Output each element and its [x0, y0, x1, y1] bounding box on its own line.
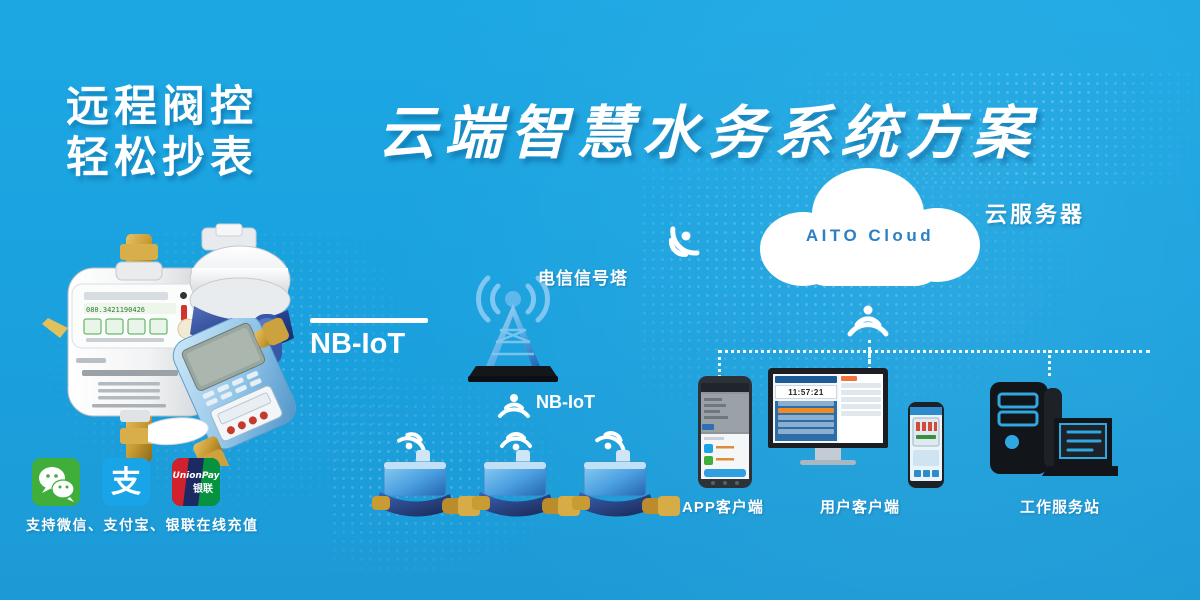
nbiot-underline: [310, 318, 428, 323]
connector-to-user: [868, 350, 871, 370]
work-station-graphic: [988, 378, 1118, 488]
monitor-nav-row: [778, 422, 834, 427]
svg-text:UnionPay: UnionPay: [172, 471, 220, 481]
monitor-panel-row: [841, 383, 881, 388]
caption-user-client: 用户客户端: [820, 496, 900, 517]
monitor-screen-right: [839, 374, 883, 443]
monitor-nav-list: [775, 401, 837, 441]
cloud-server-graphic: AITO Cloud: [760, 168, 980, 288]
monitor-base: [800, 460, 856, 465]
monitor-nav-row: [778, 401, 834, 406]
kicker-line-1: 远程阀控: [66, 82, 346, 133]
kicker-text: 远程阀控 轻松抄表: [66, 82, 346, 183]
monitor-screen: 11:57:21: [773, 374, 883, 443]
nbiot-label-secondary: NB-IoT: [536, 392, 595, 413]
monitor-screen-left: 11:57:21: [773, 374, 839, 443]
connector-horizontal: [718, 350, 1150, 353]
monitor-panel-accent: [841, 376, 857, 381]
payment-caption: 支持微信、支付宝、银联在线充值: [26, 515, 259, 535]
nbiot-badge-primary: NB-IoT: [310, 318, 428, 361]
connector-to-station: [1048, 350, 1051, 376]
wechat-pay-icon[interactable]: [32, 458, 80, 506]
svg-text:支: 支: [111, 465, 141, 500]
wifi-icon-uplink: [648, 226, 702, 270]
poster-canvas: 远程阀控 轻松抄表 云端智慧水务系统方案 080.3421190426: [0, 0, 1200, 600]
user-client-monitor: 11:57:21: [768, 368, 888, 465]
svg-text:080.3421190426: 080.3421190426: [86, 306, 145, 314]
field-meter-2: [472, 448, 582, 524]
alipay-icon[interactable]: 支: [102, 458, 150, 506]
monitor-nav-row-active: [778, 408, 834, 413]
product-meter-small: [148, 318, 328, 466]
wifi-icon-meter-1: [396, 420, 436, 450]
wifi-icon-meter-3: [594, 420, 636, 450]
payment-icon-row: 支 UnionPay 银联: [32, 458, 220, 506]
cloud-brand-label: AITO Cloud: [760, 226, 980, 246]
monitor-bezel: 11:57:21: [768, 368, 888, 448]
svg-text:银联: 银联: [193, 482, 213, 495]
monitor-panel-row: [841, 411, 881, 416]
meter-reading-phone: [908, 402, 944, 488]
kicker-line-2: 轻松抄表: [66, 133, 346, 184]
app-client-phone: [698, 376, 752, 488]
monitor-panel-row: [841, 404, 881, 409]
monitor-clock: 11:57:21: [775, 385, 837, 399]
nbiot-label-primary: NB-IoT: [310, 328, 428, 361]
wifi-icon-meter-2: [496, 422, 538, 452]
monitor-nav-row: [778, 429, 834, 434]
monitor-panel-row: [841, 397, 881, 402]
tower-label: 电信信号塔: [538, 264, 628, 289]
wifi-icon-downlink: [840, 296, 896, 340]
caption-work-station: 工作服务站: [1020, 496, 1100, 517]
connector-to-app: [718, 350, 721, 378]
monitor-stand: [815, 448, 841, 460]
caption-app-client: APP客户端: [682, 496, 764, 517]
monitor-panel-row: [841, 390, 881, 395]
field-meter-1: [372, 448, 482, 524]
page-title: 云端智慧水务系统方案: [378, 86, 1038, 170]
cloud-server-label: 云服务器: [985, 197, 1085, 229]
monitor-titlebar: [775, 376, 837, 383]
wifi-icon-tower-down: [492, 388, 536, 422]
field-meter-3: [572, 448, 682, 524]
unionpay-icon[interactable]: UnionPay 银联: [172, 458, 220, 506]
monitor-nav-row: [778, 415, 834, 420]
